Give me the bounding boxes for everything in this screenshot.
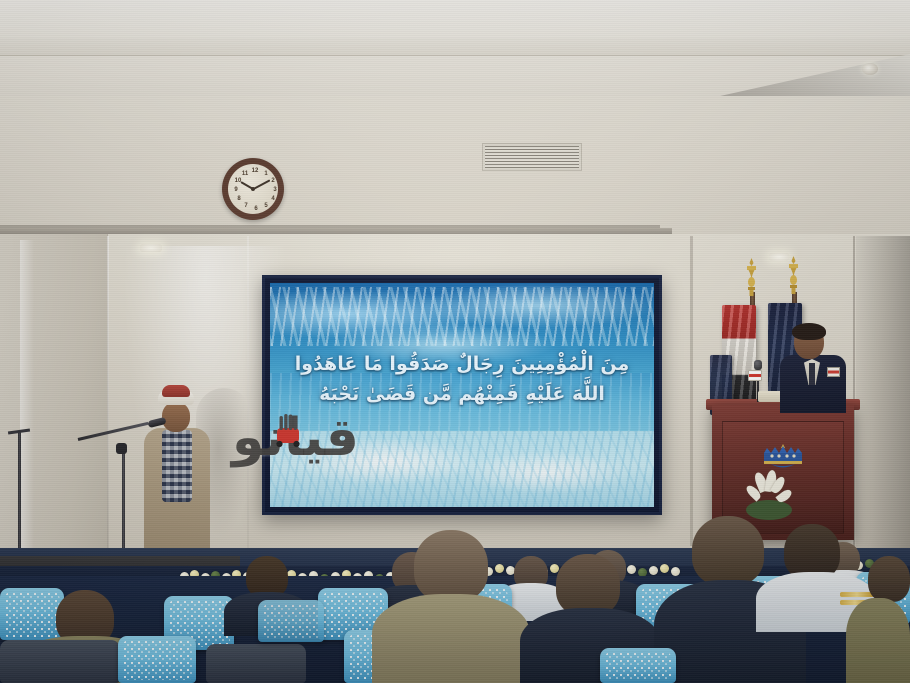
clock-numeral: 9 bbox=[232, 186, 240, 194]
clock-numeral: 6 bbox=[252, 205, 260, 213]
reciter-turban-red-cap bbox=[162, 385, 190, 397]
microphone-head-icon bbox=[754, 360, 762, 370]
clock-numeral: 12 bbox=[251, 167, 259, 175]
clock-numeral: 8 bbox=[235, 195, 243, 203]
microphone-flag-badge bbox=[748, 370, 762, 381]
clock-minute-hand bbox=[253, 179, 271, 189]
wall-clock: 12 1 2 3 4 5 6 7 8 9 10 11 bbox=[222, 158, 284, 220]
wall-right-shadow bbox=[856, 236, 910, 556]
clock-numeral: 3 bbox=[271, 186, 279, 194]
clock-numeral: 4 bbox=[269, 195, 277, 203]
naval-crown-emblem-icon bbox=[760, 443, 806, 473]
microphone-stand-joint bbox=[116, 443, 127, 454]
chair-fabric-pattern bbox=[122, 639, 192, 680]
reciter-head bbox=[162, 402, 190, 432]
clock-face: 12 1 2 3 4 5 6 7 8 9 10 11 bbox=[228, 164, 278, 214]
speaker-ribbon-badge bbox=[827, 367, 840, 377]
audience-shoulders bbox=[846, 598, 910, 683]
clock-numeral: 5 bbox=[262, 202, 270, 210]
stage-flower bbox=[671, 567, 680, 576]
speaker-tie bbox=[809, 363, 815, 385]
ceiling-air-vent bbox=[482, 143, 582, 171]
ceiling-light-icon bbox=[862, 63, 878, 75]
stage-flower bbox=[627, 565, 636, 574]
auditorium-photo: 12 1 2 3 4 5 6 7 8 9 10 11 bbox=[0, 0, 910, 683]
wall-corner bbox=[690, 236, 693, 546]
audience-head bbox=[556, 554, 620, 616]
chair-fabric-pattern bbox=[262, 603, 320, 639]
led-presentation-screen[interactable]: مِنَ الْمُؤْمِنِينَ رِجَالٌ صَدَقُوا مَا… bbox=[262, 275, 662, 515]
red-hand-icon bbox=[272, 414, 304, 448]
foliage bbox=[746, 500, 792, 520]
upper-wall bbox=[0, 96, 910, 246]
recessed-light-icon bbox=[140, 244, 162, 252]
microphone-stand-secondary bbox=[18, 432, 21, 562]
auditorium-chair[interactable] bbox=[258, 600, 324, 642]
auditorium-chair[interactable] bbox=[0, 588, 64, 640]
vent-grille-icon bbox=[485, 146, 579, 168]
quran-reciter bbox=[140, 390, 214, 570]
clock-numeral: 2 bbox=[269, 177, 277, 185]
chair-fabric-pattern bbox=[604, 651, 672, 680]
screen-verse-text: مِنَ الْمُؤْمِنِينَ رِجَالٌ صَدَقُوا مَا… bbox=[270, 350, 654, 409]
auditorium-chair-back[interactable] bbox=[0, 640, 120, 683]
audience-head bbox=[868, 556, 910, 602]
audience-head bbox=[692, 516, 764, 586]
verse-line-2: اللَّهَ عَلَيْهِ فَمِنْهُم مَّن قَضَىٰ ن… bbox=[286, 380, 638, 409]
naval-epaulette bbox=[840, 592, 874, 597]
auditorium-chair[interactable] bbox=[118, 636, 196, 683]
clock-numeral: 7 bbox=[242, 202, 250, 210]
wall-recess-left bbox=[0, 234, 108, 564]
speaker-hair bbox=[792, 323, 826, 340]
verse-line-1: مِنَ الْمُؤْمِنِينَ رِجَالٌ صَدَقُوا مَا… bbox=[295, 353, 630, 375]
screen-foam-texture bbox=[270, 287, 654, 345]
auditorium-chair[interactable] bbox=[600, 648, 676, 683]
stage-flower bbox=[649, 566, 658, 575]
stage-flower bbox=[660, 564, 669, 573]
podium-flower-arrangement bbox=[740, 470, 796, 522]
podium-speaker bbox=[780, 325, 846, 410]
ceiling-soffit bbox=[0, 38, 910, 56]
wall-panel-seam bbox=[107, 236, 109, 556]
chair-fabric-pattern bbox=[4, 591, 60, 637]
gold-eagle-finial-icon bbox=[744, 258, 759, 296]
clock-center-pin bbox=[251, 187, 255, 191]
audience-shoulders bbox=[372, 594, 530, 683]
gold-eagle-finial-icon bbox=[786, 256, 801, 294]
auditorium-chair-back[interactable] bbox=[206, 644, 306, 683]
audience-head bbox=[414, 530, 488, 602]
clock-numeral: 11 bbox=[241, 170, 249, 178]
reciter-plaid-scarf bbox=[162, 430, 192, 502]
screen-display-area: مِنَ الْمُؤْمِنِينَ رِجَالٌ صَدَقُوا مَا… bbox=[270, 283, 654, 507]
stage-flower bbox=[495, 564, 504, 573]
wall-recess-highlight bbox=[20, 240, 34, 560]
